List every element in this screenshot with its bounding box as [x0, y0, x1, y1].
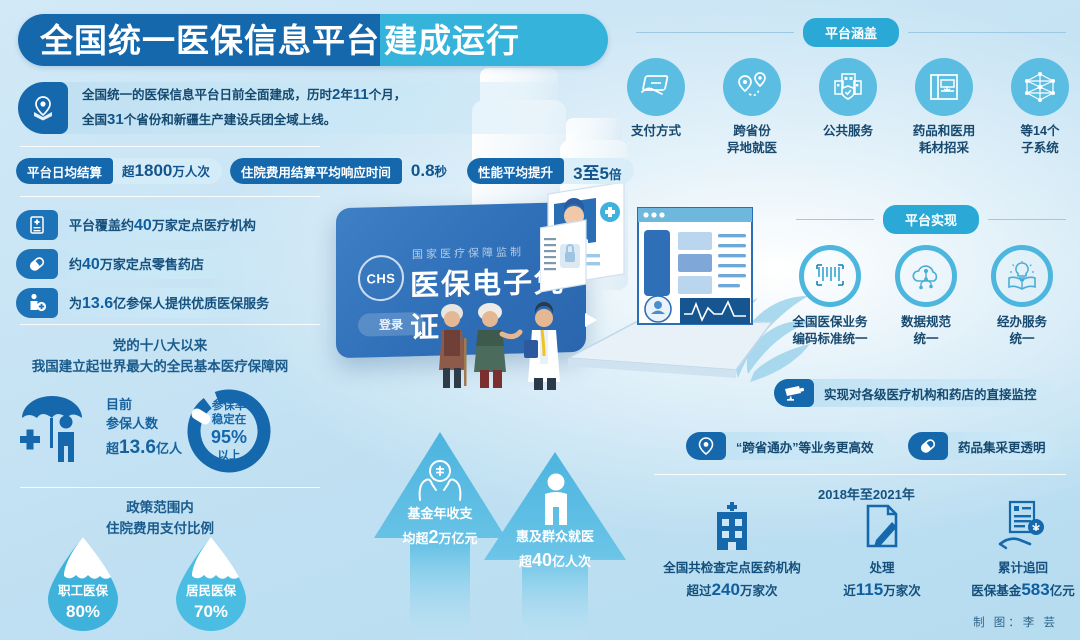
- card-login-button[interactable]: 登录: [358, 312, 424, 337]
- arrow-line1: 惠及群众就医: [480, 528, 630, 547]
- list-item: 平台覆盖约40万家定点医疗机构: [16, 210, 291, 240]
- hands-money-icon: [412, 458, 468, 502]
- insurance-rate-label: 参保率 稳定在 95% 以上: [183, 385, 275, 477]
- list-item: 为13.6亿参保人提供优质医保服务: [16, 288, 291, 318]
- stat-value: 0.8秒: [402, 161, 459, 181]
- arrow-value: 超40亿人次: [480, 547, 630, 573]
- list-item-label: 约40万家定点零售药店: [69, 254, 204, 274]
- stat-key: 性能平均提升: [467, 158, 564, 184]
- covers-icon-row: 支付方式 跨省份异地就医: [608, 58, 1080, 157]
- cctv-camera-icon: [774, 379, 814, 407]
- feature-pill-transparent-procurement: 药品集采更透明: [908, 432, 1062, 460]
- policy-block: 政策范围内 住院费用支付比例: [0, 498, 320, 540]
- section-caption: 平台涵盖: [803, 18, 899, 47]
- donut-line2: 稳定在: [212, 413, 247, 427]
- insured-population-stat: 目前 参保人数 超13.6亿人: [14, 388, 182, 470]
- narrative-line1: 党的十八大以来: [0, 336, 320, 357]
- enforcement-row: 全国共检查定点医药机构 超过240万家次 处理 近115万家次: [648, 500, 1080, 601]
- enforcement-item-label: 全国共检查定点医药机构 超过240万家次: [648, 560, 816, 601]
- people-illustration: [420, 300, 600, 390]
- achieves-item-label: 全国医保业务编码标准统一: [782, 314, 878, 348]
- page-title-segment-dark: 全国统一医保信息平台: [18, 14, 380, 66]
- covers-item-label: 公共服务: [800, 123, 896, 140]
- achieves-item-data: 数据规范统一: [878, 245, 974, 348]
- covers-item-label: 跨省份异地就医: [704, 123, 800, 157]
- credit-line: 制 图：李 芸: [973, 614, 1058, 630]
- section-header-covers: 平台涵盖: [636, 18, 1066, 47]
- droplet-label-text: 职工医保: [58, 584, 108, 598]
- page-title: 全国统一医保信息平台 建成运行: [18, 14, 608, 66]
- lead-line1-b: 年: [340, 88, 353, 102]
- section-header-achieves: 平台实现: [796, 205, 1066, 234]
- stat-pill-performance: 性能平均提升 3至5倍: [467, 158, 633, 184]
- section-line-right: [908, 32, 1066, 33]
- feature-pill-label: 实现对各级医疗机构和药店的直接监控: [824, 384, 1053, 403]
- insured-person-icon: [16, 288, 58, 318]
- book-bulb-icon: [991, 245, 1053, 307]
- location-pin-icon: [30, 95, 56, 121]
- achieves-icon-row: 全国医保业务编码标准统一 数据规范统一: [782, 245, 1070, 348]
- umbrella-person-icon: [14, 388, 100, 470]
- achieves-item-service: 经办服务统一: [974, 245, 1070, 348]
- divider-coverage: [20, 324, 320, 325]
- droplet-employee-label: 职工医保 80%: [42, 580, 124, 622]
- stat-pill-daily-settlement: 平台日均结算 超1800万人次: [16, 158, 222, 184]
- stat-pill-row: 平台日均结算 超1800万人次 住院费用结算平均响应时间 0.8秒 性能平均提升…: [16, 158, 634, 184]
- umbrella-value: 超13.6亿人: [106, 434, 182, 462]
- narrative-line2: 我国建立起世界最大的全民基本医疗保障网: [0, 357, 320, 378]
- document-pen-icon: [858, 500, 906, 552]
- person-icon: [540, 473, 572, 525]
- list-item: 约40万家定点零售药店: [16, 249, 291, 279]
- donut-line1: 参保率: [212, 399, 247, 413]
- droplet-label-text: 居民医保: [186, 584, 236, 598]
- covers-item-label: 等14个子系统: [992, 123, 1080, 157]
- chs-logo: CHS: [358, 254, 404, 301]
- stat-value: 3至5倍: [564, 159, 633, 184]
- barcode-icon: [799, 245, 861, 307]
- stat-pill-response-time: 住院费用结算平均响应时间 0.8秒: [230, 158, 459, 184]
- lead-line1-a: 全国统一的医保信息平台日前全面建成，历时: [82, 88, 332, 102]
- list-item-label: 平台覆盖约40万家定点医疗机构: [69, 215, 256, 235]
- section-line-left: [796, 219, 874, 220]
- covers-item-public-service: 公共服务: [800, 58, 896, 157]
- cross-province-pin-icon: [723, 58, 781, 116]
- capsule-icon: [908, 432, 948, 460]
- section-caption: 平台实现: [883, 205, 979, 234]
- covers-item-cross-province: 跨省份异地就医: [704, 58, 800, 157]
- section-line-left: [636, 32, 794, 33]
- divider-policy: [20, 487, 320, 488]
- list-item-label: 为13.6亿参保人提供优质医保服务: [69, 293, 269, 313]
- section-line-right: [988, 219, 1066, 220]
- insured-population-label: 目前 参保人数 超13.6亿人: [106, 396, 182, 461]
- hospital-icon: [16, 210, 58, 240]
- feature-pill-label: “跨省通办”等业务更高效: [736, 437, 890, 456]
- enforcement-item-processed: 处理 近115万家次: [816, 500, 948, 601]
- cloud-data-icon: [895, 245, 957, 307]
- divider-enforcement: [654, 474, 1066, 475]
- page-title-text-dark: 全国统一医保信息平台: [40, 24, 380, 57]
- page-title-segment-light: 建成运行: [380, 14, 608, 66]
- divider-top: [20, 146, 320, 147]
- coverage-list: 平台覆盖约40万家定点医疗机构 约40万家定点零售药店 为13.6亿参保人提供优…: [16, 210, 291, 327]
- covers-item-payment: 支付方式: [608, 58, 704, 157]
- donut-percent: 95%: [211, 427, 247, 449]
- covers-item-procurement: 药品和医用耗材招采: [896, 58, 992, 157]
- droplet-value: 80%: [42, 602, 124, 622]
- umbrella-line1: 目前: [106, 396, 182, 415]
- capsule-icon: [16, 249, 58, 279]
- feature-pill-monitoring: 实现对各级医疗机构和药店的直接监控: [774, 379, 1053, 407]
- stat-key: 住院费用结算平均响应时间: [230, 158, 402, 184]
- lead-line2-a: 全国: [82, 113, 107, 127]
- enforcement-item-recovered: 累计追回 医保基金583亿元: [948, 500, 1080, 601]
- lead-line2-b: 个省份和新疆生产建设兵团全域上线。: [124, 113, 337, 127]
- stat-value: 超1800万人次: [113, 161, 222, 181]
- enforcement-item-inspections: 全国共检查定点医药机构 超过240万家次: [648, 500, 816, 601]
- lead-line2-num: 31: [107, 111, 124, 128]
- lead-badge: [18, 82, 68, 134]
- achieves-item-label: 经办服务统一: [974, 314, 1070, 348]
- lead-text: 全国统一的医保信息平台日前全面建成，历时2年11个月， 全国31个省份和新疆生产…: [82, 83, 406, 133]
- feature-pill-cross-province-service: “跨省通办”等业务更高效: [686, 432, 890, 460]
- enforcement-item-label: 累计追回 医保基金583亿元: [948, 560, 1080, 601]
- card-payment-icon: [627, 58, 685, 116]
- droplet-resident-label: 居民医保 70%: [170, 580, 252, 622]
- arrow-people-label: 惠及群众就医 超40亿人次: [480, 528, 630, 573]
- umbrella-line2: 参保人数: [106, 415, 182, 434]
- divider-stats: [20, 196, 320, 197]
- covers-item-subsystems: 等14个子系统: [992, 58, 1080, 157]
- policy-line1: 政策范围内: [0, 498, 320, 519]
- covers-item-label: 支付方式: [608, 123, 704, 140]
- droplet-value: 70%: [170, 602, 252, 622]
- covers-item-label: 药品和医用耗材招采: [896, 123, 992, 157]
- location-pin-icon: [686, 432, 726, 460]
- network-icon: [1011, 58, 1069, 116]
- achieves-item-label: 数据规范统一: [878, 314, 974, 348]
- hospital-building-icon: [707, 500, 757, 552]
- lead-line1-c: 个月，: [369, 88, 407, 102]
- achieves-item-coding: 全国医保业务编码标准统一: [782, 245, 878, 348]
- stat-key: 平台日均结算: [16, 158, 113, 184]
- enforcement-item-label: 处理 近115万家次: [816, 560, 948, 601]
- donut-line3: 以上: [218, 449, 241, 463]
- recover-funds-icon: [996, 500, 1050, 552]
- page-title-text-light: 建成运行: [384, 24, 520, 57]
- procurement-icon: [915, 58, 973, 116]
- lead-line1-num2: 11: [353, 86, 369, 103]
- lead-paragraph: 全国统一的医保信息平台日前全面建成，历时2年11个月， 全国31个省份和新疆生产…: [18, 82, 588, 134]
- narrative-block: 党的十八大以来 我国建立起世界最大的全民基本医疗保障网: [0, 336, 320, 378]
- infographic-canvas: CHS 国家医疗保障监制 医保电子凭证 登录: [0, 0, 1080, 640]
- feature-pill-label: 药品集采更透明: [958, 437, 1062, 456]
- building-shield-icon: [819, 58, 877, 116]
